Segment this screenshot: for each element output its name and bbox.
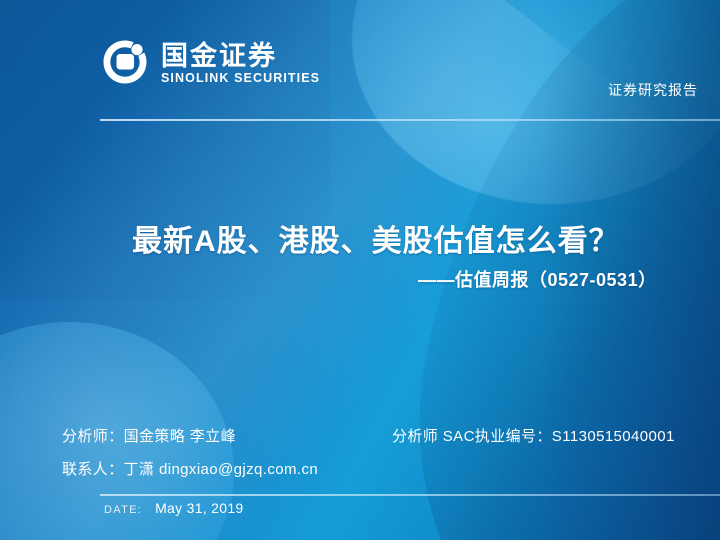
report-kind-label: 证券研究报告: [608, 80, 698, 100]
report-cover-slide: 国金证券 SINOLINK SECURITIES 证券研究报告 最新A股、港股、…: [0, 0, 720, 540]
date-value: May 31, 2019: [155, 500, 243, 516]
page-subtitle: ——估值周报（0527-0531）: [418, 266, 657, 292]
brand-name-cn: 国金证券: [161, 42, 320, 70]
date-row: DATE: May 31, 2019: [104, 500, 244, 516]
contact-person: 联系人：丁潇 dingxiao@gjzq.com.cn: [62, 458, 318, 479]
page-title: 最新A股、港股、美股估值怎么看？: [132, 216, 620, 260]
top-divider: [100, 119, 720, 121]
sinolink-logo-icon: [100, 38, 150, 88]
analyst-name: 分析师：国金策略 李立峰: [62, 425, 236, 446]
analyst-license-number: 分析师 SAC执业编号：S1130515040001: [392, 425, 675, 446]
brand-name-en: SINOLINK SECURITIES: [161, 72, 320, 85]
slide-content: 国金证券 SINOLINK SECURITIES 证券研究报告 最新A股、港股、…: [0, 0, 720, 540]
brand-lockup: 国金证券 SINOLINK SECURITIES: [100, 38, 320, 88]
bottom-divider: [100, 494, 720, 496]
brand-text: 国金证券 SINOLINK SECURITIES: [161, 42, 320, 85]
date-label: DATE:: [104, 504, 142, 516]
